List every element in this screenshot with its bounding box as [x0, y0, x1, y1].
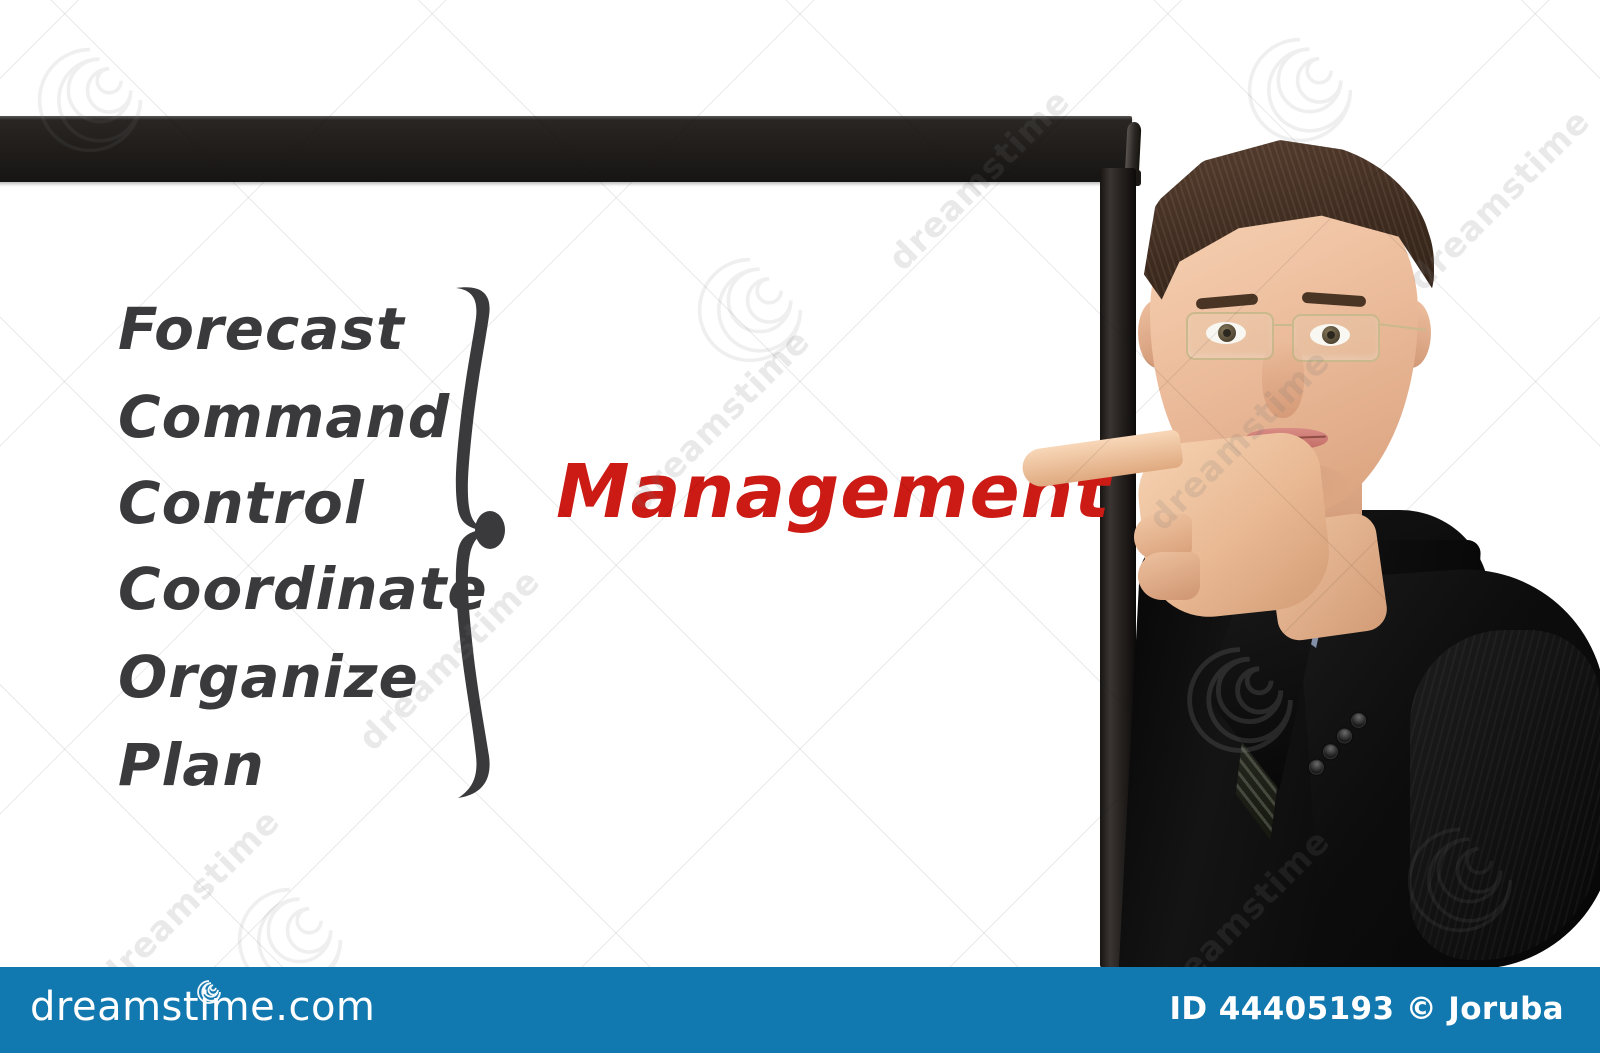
curly-brace-icon [440, 282, 520, 804]
lens-right [1292, 314, 1380, 362]
nose [1262, 342, 1304, 418]
list-item: Coordinate [118, 560, 488, 618]
businessman-figure [1010, 110, 1600, 970]
lens-left [1186, 312, 1274, 360]
frame-highlight [0, 116, 1132, 120]
folded-finger-lower [1138, 552, 1200, 600]
list-item: Command [118, 388, 450, 446]
footer-bar: dreamstime.com ID 44405193 © Joruba [0, 967, 1600, 1053]
brand-lockup[interactable]: dreamstime.com [30, 983, 375, 1031]
suit-sleeve-fold [1410, 630, 1600, 960]
list-item: Organize [118, 648, 419, 706]
whiteboard-top-frame [0, 116, 1132, 182]
list-item: Forecast [118, 300, 405, 358]
screenshot-stage: Forecast Command Control Coordinate Orga… [0, 0, 1600, 1053]
registered-spiral-icon [196, 979, 222, 1005]
image-credit: ID 44405193 © Joruba [1169, 991, 1564, 1027]
list-item: Control [118, 474, 365, 532]
glasses-bridge [1274, 324, 1294, 326]
list-item: Plan [118, 736, 265, 794]
